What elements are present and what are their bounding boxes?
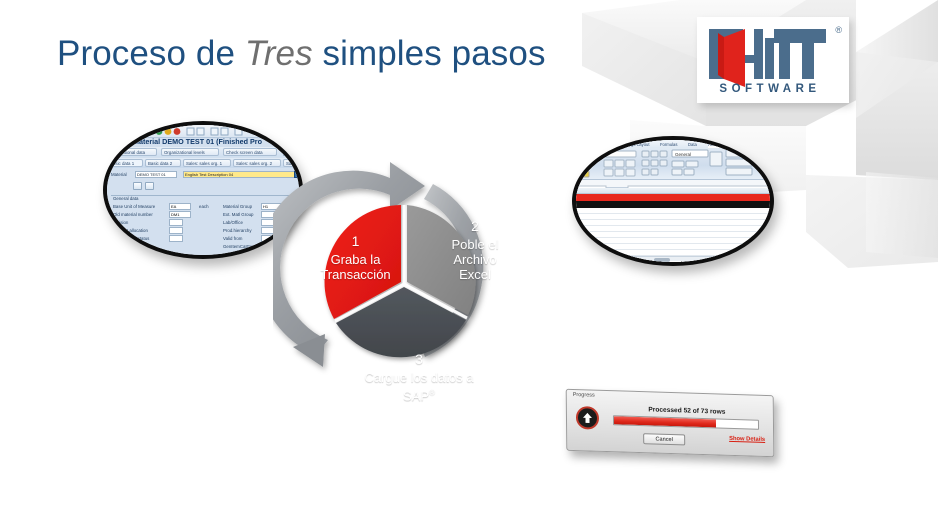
excel-ribbon-controls: General [576, 148, 774, 180]
excel-screenshot-oval: Home Insert Page Layout Formulas Data Re… [572, 136, 774, 266]
sap-group-auth: Material authorization group [111, 255, 199, 259]
excel-ribbon: Home Insert Page Layout Formulas Data Re… [576, 140, 770, 180]
excel-tab-home[interactable]: Home [582, 141, 593, 148]
excel-formula-bar[interactable] [576, 180, 770, 188]
svg-text:General: General [675, 152, 691, 157]
excel-tab-formulas[interactable]: Formulas [660, 141, 677, 148]
sap-input-xplant-status[interactable] [169, 235, 183, 242]
sap-label-material-group: Material Group [223, 204, 252, 209]
excel-ribbon-tabstrip: Home Insert Page Layout Formulas Data Re… [576, 140, 770, 148]
sap-window-title: Material DEMO TEST 01 (Finished Pro [133, 137, 262, 146]
sap-material-row: Material DEMO TEST 01 English Test Descr… [111, 171, 295, 180]
show-details-link[interactable]: Show Details [729, 436, 765, 443]
sap-label-xplant-status: X-plant matl status [113, 236, 149, 241]
excel-horizontal-scrollbar[interactable] [576, 256, 770, 261]
sap-label-genitemcatgroup: GenItemCatGroup [223, 244, 259, 249]
excel-tab-insert[interactable]: Insert [604, 141, 614, 148]
excel-scrollbar-thumb[interactable] [654, 258, 670, 262]
progress-bar [613, 415, 759, 430]
progress-dialog-title: Progress [573, 392, 595, 399]
table-row[interactable]: test010English Test Description 10H1LBM3 [576, 262, 770, 266]
excel-header-row: Material NumberMaterial Description (Sho… [576, 201, 770, 208]
sap-tabrow-lower: Basic data 1 Basic data 2 Sales: sales o… [107, 158, 299, 168]
sap-label-each: each [199, 204, 209, 209]
sap-detail-button-2[interactable] [145, 182, 154, 190]
hit-software-logo: ® SOFTWARE [697, 17, 849, 103]
sap-tab-basic-data-2[interactable]: Basic data 2 [145, 159, 181, 167]
sap-input-prod-allocation[interactable] [169, 227, 183, 234]
sap-input-division[interactable] [169, 219, 183, 226]
sap-input-base-uom[interactable]: EA [169, 203, 191, 210]
excel-tab-view[interactable]: View [736, 141, 745, 148]
slide-canvas: Proceso de Tres simples pasos ® SOFTWARE [0, 0, 938, 528]
cancel-button[interactable]: Cancel [643, 433, 685, 445]
sap-label-prod-hierarchy: Prod.hierarchy [223, 228, 252, 233]
progress-dialog: Progress Processed 52 of 73 rows Cancel … [566, 389, 775, 458]
sap-tab-basic-data-1[interactable]: Basic data 1 [107, 159, 143, 167]
sap-tab-organizational-levels[interactable]: Organizational levels [161, 148, 219, 156]
sap-label-valid-from: Valid from [223, 236, 242, 241]
three-step-cycle-diagram [273, 148, 538, 416]
logo-subtitle: SOFTWARE [697, 83, 843, 95]
upload-arrow-icon [576, 406, 599, 430]
excel-tab-data[interactable]: Data [688, 141, 697, 148]
title-emphasis: Tres [245, 34, 313, 73]
sap-material-input[interactable]: DEMO TEST 01 [135, 171, 177, 178]
sap-tab-check-screen-data[interactable]: Check screen data [223, 148, 277, 156]
sap-tab-additional-data[interactable]: Additional data [113, 148, 157, 156]
sap-material-label: Material [111, 172, 127, 177]
excel-technical-header-row: MARA-MATNRMAKT-MAKTXMARA-MATKLMARA-GEWEI… [576, 194, 770, 201]
page-title: Proceso de Tres simples pasos [57, 32, 546, 76]
sap-tabrow-upper: Additional data Organizational levels Ch… [111, 147, 295, 157]
cycle-segments [325, 205, 476, 357]
title-part-2: simples pasos [313, 34, 546, 73]
sap-label-ext-matl-group: Ext. Matl Group [223, 212, 254, 217]
title-part-1: Proceso de [57, 34, 245, 73]
sap-label-prod-allocation: Product allocation [113, 228, 148, 233]
excel-tab-review[interactable]: Review [708, 141, 722, 148]
registered-trademark-icon: ® [835, 25, 842, 35]
progress-dialog-wrapper: Progress Processed 52 of 73 rows Cancel … [566, 389, 775, 458]
sap-tab-sales-org-1[interactable]: Sales: sales org. 1 [183, 159, 231, 167]
sap-label-base-uom: Base Unit of Measure [113, 204, 155, 209]
excel-tab-page-layout[interactable]: Page Layout [626, 141, 650, 148]
sap-detail-button-1[interactable] [133, 182, 142, 190]
sap-label-old-matnr: Old material number [113, 212, 153, 217]
sap-label-lab-office: Lab/Office [223, 220, 243, 225]
sap-input-old-matnr[interactable]: DM1 [169, 211, 191, 218]
sap-label-division: Division [113, 220, 128, 225]
progress-bar-fill [614, 416, 716, 427]
